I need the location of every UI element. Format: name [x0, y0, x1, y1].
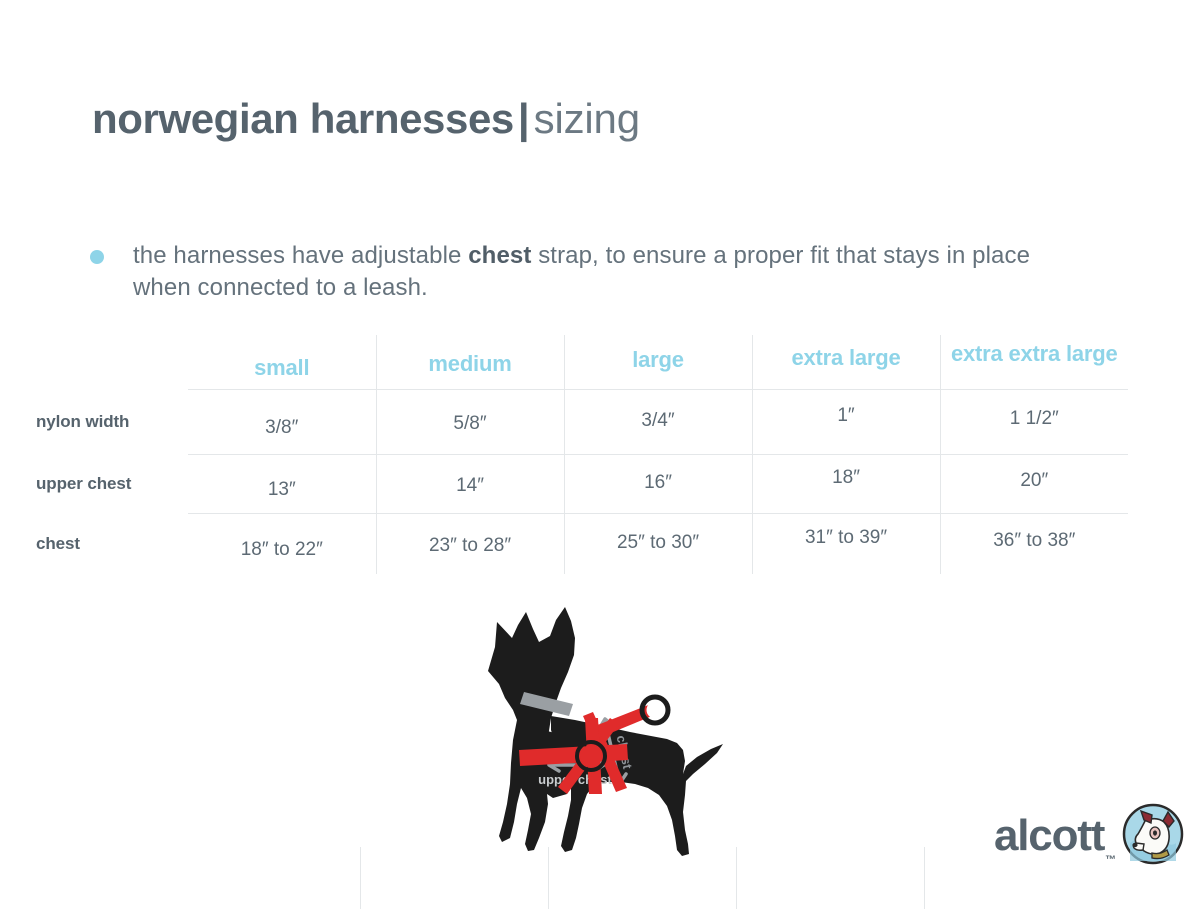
column-header-large: large	[564, 335, 752, 390]
cell-chest-extra-large: 31″ to 39″	[752, 514, 940, 575]
bullet-text: the harnesses have adjustable chest stra…	[133, 240, 1090, 303]
cell-value: 16″	[644, 472, 672, 493]
alcott-logo: alcott ™	[994, 800, 1174, 872]
cell-upper-chest-large: 16″	[564, 455, 752, 514]
alcott-wordmark: alcott	[994, 814, 1104, 858]
trademark-symbol: ™	[1105, 854, 1116, 866]
table-corner-cell	[36, 335, 188, 390]
column-header-large-label: large	[632, 347, 684, 372]
cell-nylon-width-extra-extra-large: 1 1/2″	[940, 390, 1128, 455]
page-title-light: sizing	[534, 95, 640, 142]
column-header-small-label: small	[254, 355, 309, 380]
cell-value: 18″ to 22″	[241, 539, 323, 560]
column-header-extra-large: extra large	[752, 335, 940, 390]
cell-value: 1 1/2″	[1010, 408, 1059, 429]
cell-value: 3/8″	[265, 417, 298, 438]
page-title-separator: |	[514, 95, 534, 142]
table-row: nylon width 3/8″ 5/8″ 3/4″ 1″ 1 1/2″	[36, 390, 1128, 455]
dog-harness-svg: chest upper chest	[455, 598, 755, 893]
cell-value: 36″ to 38″	[993, 530, 1075, 551]
cell-upper-chest-extra-large: 18″	[752, 455, 940, 514]
cell-value: 23″ to 28″	[429, 535, 511, 556]
row-label-chest: chest	[36, 514, 188, 575]
bullet-list-item: the harnesses have adjustable chest stra…	[90, 240, 1090, 303]
column-header-extra-extra-large: extra extra large	[940, 335, 1128, 390]
sizing-table-container: small medium large extra large extra ext…	[0, 335, 1200, 580]
bullet-text-before: the harnesses have adjustable	[133, 242, 468, 269]
cell-nylon-width-small: 3/8″	[188, 390, 376, 455]
cell-chest-extra-extra-large: 36″ to 38″	[940, 514, 1128, 575]
column-header-small: small	[188, 335, 376, 390]
cell-value: 20″	[1020, 470, 1048, 491]
bullet-dot-icon	[90, 250, 104, 264]
cell-value: 13″	[268, 479, 296, 500]
bullet-text-emphasis: chest	[468, 242, 531, 269]
cell-upper-chest-small: 13″	[188, 455, 376, 514]
sizing-table: small medium large extra large extra ext…	[36, 335, 1128, 574]
table-row: upper chest 13″ 14″ 16″ 18″ 20″	[36, 455, 1128, 514]
cell-chest-medium: 23″ to 28″	[376, 514, 564, 575]
cell-value: 18″	[832, 467, 860, 488]
cell-chest-small: 18″ to 22″	[188, 514, 376, 575]
cell-value: 3/4″	[641, 410, 674, 431]
cell-nylon-width-medium: 5/8″	[376, 390, 564, 455]
cell-upper-chest-medium: 14″	[376, 455, 564, 514]
cell-nylon-width-large: 3/4″	[564, 390, 752, 455]
row-label-nylon-width: nylon width	[36, 390, 188, 455]
cell-upper-chest-extra-extra-large: 20″	[940, 455, 1128, 514]
cell-chest-large: 25″ to 30″	[564, 514, 752, 575]
page-title-bold: norwegian harnesses	[92, 95, 514, 142]
page-title: norwegian harnesses|sizing	[92, 95, 640, 143]
alcott-dog-badge-icon	[1122, 803, 1184, 870]
column-header-medium-label: medium	[428, 351, 511, 376]
column-header-extra-extra-large-label: extra extra large	[951, 341, 1118, 366]
cell-value: 5/8″	[453, 413, 486, 434]
table-header-row: small medium large extra large extra ext…	[36, 335, 1128, 390]
table-row: chest 18″ to 22″ 23″ to 28″ 25″ to 30″ 3…	[36, 514, 1128, 575]
cell-value: 1″	[837, 405, 854, 426]
column-header-medium: medium	[376, 335, 564, 390]
cell-value: 14″	[456, 475, 484, 496]
cell-nylon-width-extra-large: 1″	[752, 390, 940, 455]
dog-harness-illustration: chest upper chest	[455, 598, 755, 893]
harness-junction-ring-icon	[577, 742, 605, 770]
cell-value: 31″ to 39″	[805, 527, 887, 548]
cell-value: 25″ to 30″	[617, 532, 699, 553]
row-label-upper-chest: upper chest	[36, 455, 188, 514]
column-header-extra-large-label: extra large	[791, 345, 900, 370]
